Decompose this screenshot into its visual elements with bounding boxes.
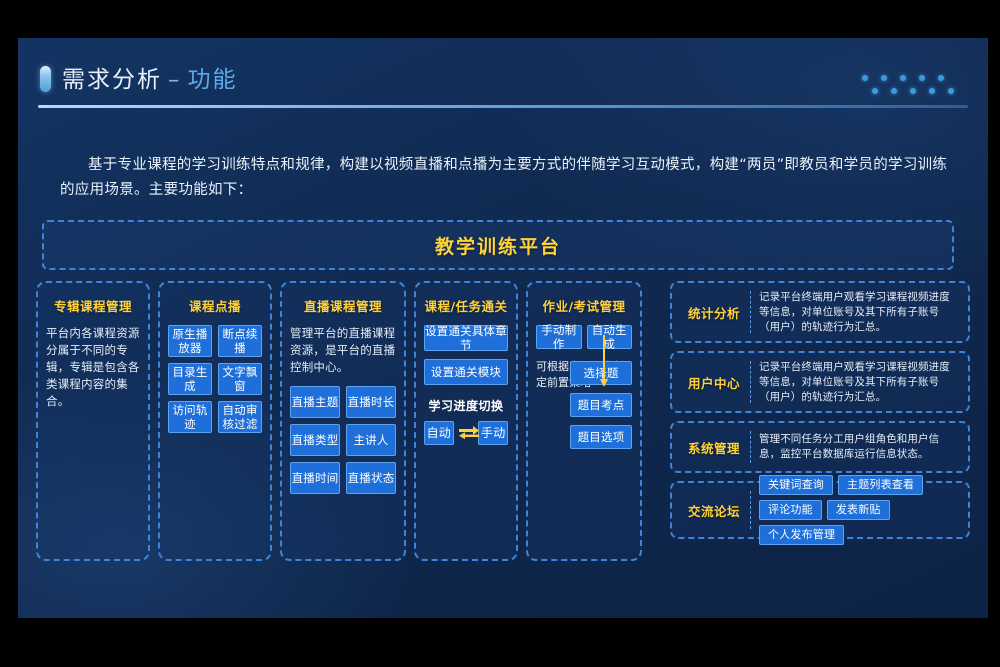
module-label: 统计分析 xyxy=(680,303,748,322)
page-title-sub: 功能 xyxy=(188,67,238,93)
feature-button[interactable]: 直播状态 xyxy=(346,462,396,494)
forum-button[interactable]: 评论功能 xyxy=(759,500,822,520)
forum-button-group: 关键词查询 主题列表查看 评论功能 发表新贴 个人发布管理 xyxy=(759,475,960,545)
feature-button[interactable]: 主讲人 xyxy=(346,424,396,456)
progress-switch-label: 学习进度切换 xyxy=(428,397,503,414)
module-divider xyxy=(750,491,751,529)
column-title: 专辑课程管理 xyxy=(54,299,132,315)
exam-bottom-buttons: 选择题 题目考点 题目选项 xyxy=(536,361,632,457)
platform-banner: 教学训练平台 xyxy=(42,220,954,270)
feature-button[interactable]: 直播主题 xyxy=(290,386,340,418)
module-row-statistics: 统计分析 记录平台终端用户观看学习课程视频进度等信息，对单位账号及其下所有子账号… xyxy=(670,281,970,343)
exchange-arrows-icon xyxy=(457,421,476,445)
feature-button[interactable]: 原生播放器 xyxy=(168,325,212,357)
forum-button[interactable]: 关键词查询 xyxy=(759,475,833,495)
column-button-grid: 直播主题 直播时长 直播类型 主讲人 直播时间 直播状态 xyxy=(290,386,396,494)
screenshot-frame: 需求分析–功能 基于专业课程的学习训练特点和规律，构建以视频直播和点播为主要方式… xyxy=(0,0,1000,667)
column-title: 直播课程管理 xyxy=(304,299,382,315)
module-description: 记录平台终端用户观看学习课程视频进度等信息，对单位账号及其下所有子账号（用户）的… xyxy=(759,290,960,335)
page-title-main: 需求分析 xyxy=(62,67,162,93)
feature-button[interactable]: 直播时长 xyxy=(346,386,396,418)
feature-button[interactable]: 目录生成 xyxy=(168,363,212,395)
pill-icon xyxy=(40,66,51,92)
feature-button[interactable]: 自动审核过滤 xyxy=(218,401,262,433)
progress-switch: 自动 手动 xyxy=(424,421,508,445)
right-module-panel: 统计分析 记录平台终端用户观看学习课程视频进度等信息，对单位账号及其下所有子账号… xyxy=(670,281,970,561)
switch-manual-button[interactable]: 手动 xyxy=(478,421,508,445)
intro-paragraph-text: 基于专业课程的学习训练特点和规律，构建以视频直播和点播为主要方式的伴随学习互动模… xyxy=(60,157,947,198)
feature-button[interactable]: 题目选项 xyxy=(570,425,632,449)
column-course-task-clearance: 课程/任务通关 设置通关具体章节 设置通关模块 学习进度切换 自动 手动 xyxy=(414,281,518,561)
module-label: 用户中心 xyxy=(680,373,748,392)
feature-button[interactable]: 手动制作 xyxy=(536,325,582,349)
forum-button[interactable]: 主题列表查看 xyxy=(838,475,923,495)
function-columns: 专辑课程管理 平台内各课程资源分属于不同的专辑，专辑是包含各类课程内容的集合。 … xyxy=(36,281,652,561)
column-description: 平台内各课程资源分属于不同的专辑，专辑是包含各类课程内容的集合。 xyxy=(46,325,140,410)
feature-button[interactable]: 设置通关模块 xyxy=(424,359,508,385)
column-title: 作业/考试管理 xyxy=(542,299,625,315)
intro-paragraph: 基于专业课程的学习训练特点和规律，构建以视频直播和点播为主要方式的伴随学习互动模… xyxy=(60,153,950,203)
module-divider xyxy=(750,361,751,403)
column-description: 管理平台的直播课程资源，是平台的直播控制中心。 xyxy=(290,325,396,376)
down-arrow-icon xyxy=(596,335,612,393)
column-button-stack: 设置通关具体章节 设置通关模块 xyxy=(424,325,508,385)
forum-button[interactable]: 发表新贴 xyxy=(827,500,890,520)
column-button-grid: 原生播放器 断点续播 目录生成 文字飘窗 访问轨迹 自动审核过滤 xyxy=(168,325,262,433)
feature-button[interactable]: 直播类型 xyxy=(290,424,340,456)
slide-canvas: 需求分析–功能 基于专业课程的学习训练特点和规律，构建以视频直播和点播为主要方式… xyxy=(18,38,988,618)
module-row-system-management: 系统管理 管理不同任务分工用户组角色和用户信息，监控平台数据库运行信息状态。 xyxy=(670,421,970,473)
switch-auto-button[interactable]: 自动 xyxy=(424,421,454,445)
feature-button[interactable]: 访问轨迹 xyxy=(168,401,212,433)
module-row-forum: 交流论坛 关键词查询 主题列表查看 评论功能 发表新贴 个人发布管理 xyxy=(670,481,970,539)
column-title: 课程/任务通关 xyxy=(424,299,507,315)
module-divider xyxy=(750,291,751,333)
column-course-vod: 课程点播 原生播放器 断点续播 目录生成 文字飘窗 访问轨迹 自动审核过滤 xyxy=(158,281,272,561)
forum-button[interactable]: 个人发布管理 xyxy=(759,525,844,545)
module-description: 记录平台终端用户观看学习课程视频进度等信息，对单位账号及其下所有子账号（用户）的… xyxy=(759,360,960,405)
feature-button[interactable]: 直播时间 xyxy=(290,462,340,494)
feature-button[interactable]: 设置通关具体章节 xyxy=(424,325,508,351)
feature-button[interactable]: 断点续播 xyxy=(218,325,262,357)
page-title: 需求分析–功能 xyxy=(62,60,238,94)
column-live-course-management: 直播课程管理 管理平台的直播课程资源，是平台的直播控制中心。 直播主题 直播时长… xyxy=(280,281,406,561)
platform-banner-title: 教学训练平台 xyxy=(435,232,561,259)
column-title: 课程点播 xyxy=(189,299,241,315)
dot-grid-decoration xyxy=(862,64,958,90)
title-separator: – xyxy=(168,67,182,93)
slide-header: 需求分析–功能 xyxy=(38,58,968,118)
module-label: 交流论坛 xyxy=(680,501,748,520)
module-label: 系统管理 xyxy=(680,438,748,457)
module-row-user-center: 用户中心 记录平台终端用户观看学习课程视频进度等信息，对单位账号及其下所有子账号… xyxy=(670,351,970,413)
exam-top-buttons: 手动制作 自动生成 xyxy=(536,325,632,349)
module-divider xyxy=(750,431,751,463)
column-homework-exam-management: 作业/考试管理 手动制作 自动生成 可根据实际需求制定前置策略 选择题 题目考点… xyxy=(526,281,642,561)
header-underline xyxy=(38,105,968,108)
column-album-course-management: 专辑课程管理 平台内各课程资源分属于不同的专辑，专辑是包含各类课程内容的集合。 xyxy=(36,281,150,561)
feature-button[interactable]: 题目考点 xyxy=(570,393,632,417)
module-description: 管理不同任务分工用户组角色和用户信息，监控平台数据库运行信息状态。 xyxy=(759,432,960,462)
feature-button[interactable]: 文字飘窗 xyxy=(218,363,262,395)
